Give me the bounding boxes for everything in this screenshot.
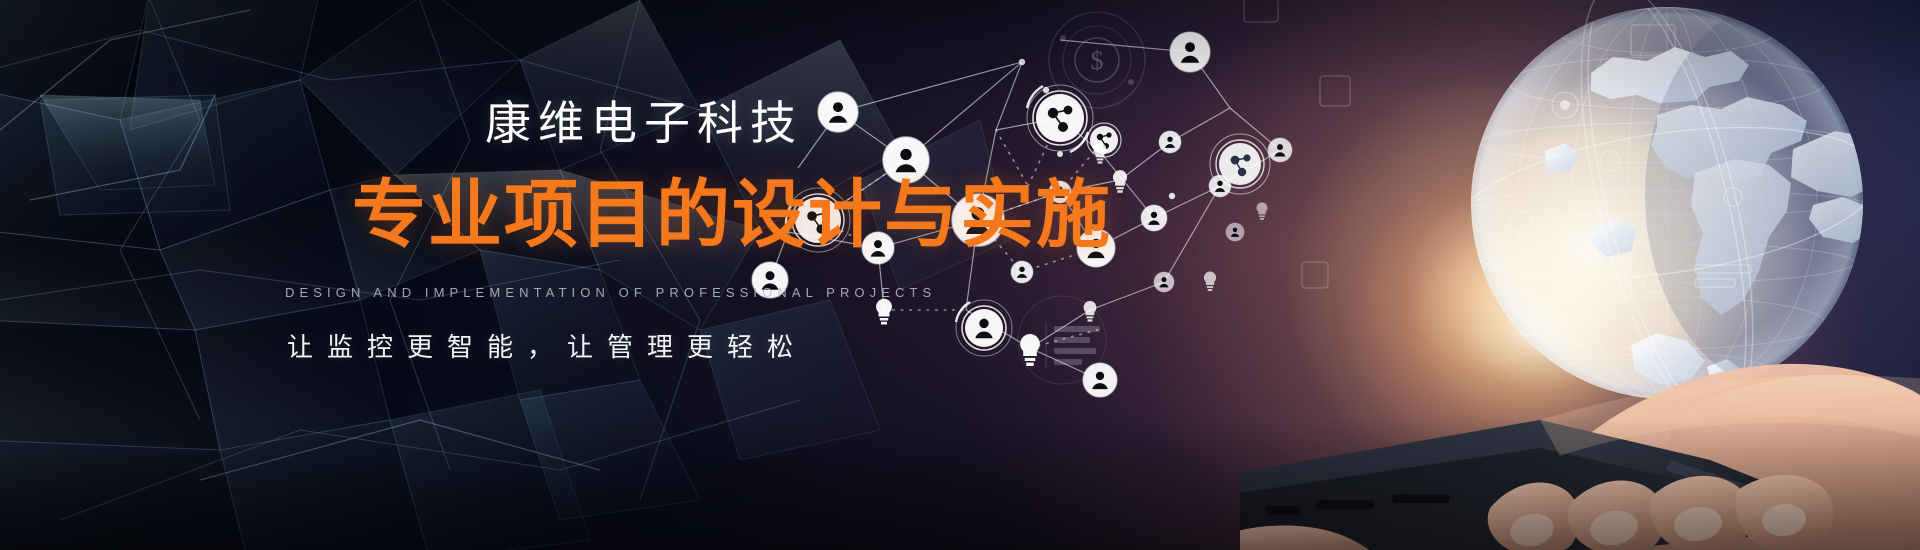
tagline: 让监控更智能，让管理更轻松 [287, 334, 807, 360]
company-title: 康维电子科技 [485, 100, 803, 146]
headline-english-subtitle: DESIGN AND IMPLEMENTATION OF PROFESSIONA… [285, 286, 936, 299]
svg-text:$: $ [1091, 46, 1104, 75]
hero-banner: $ [0, 0, 1920, 550]
hand-holding-smartphone [1240, 300, 1920, 550]
headline: 专业项目的设计与实施 [352, 178, 1112, 252]
